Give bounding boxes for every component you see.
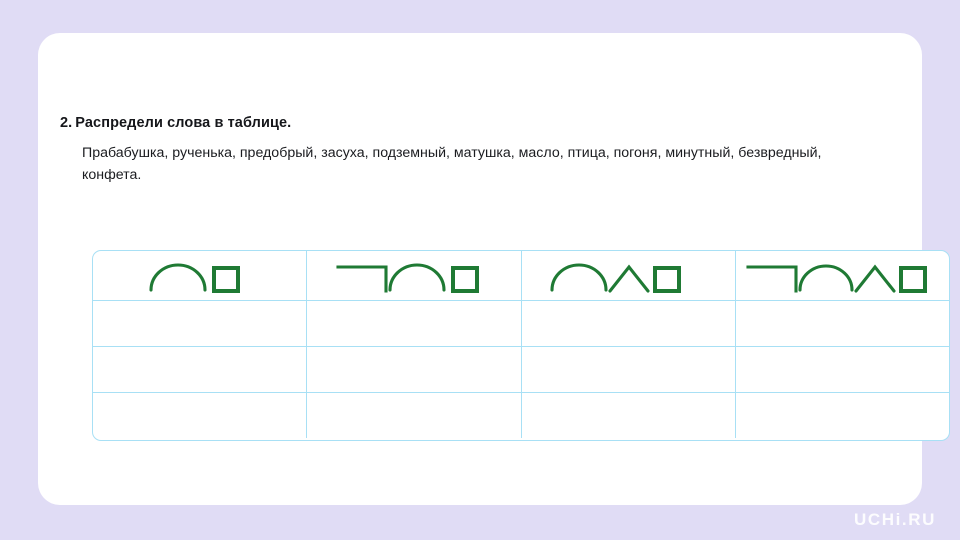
answer-cell[interactable]: [93, 347, 306, 392]
table-row: [93, 346, 949, 392]
ending-square-icon: [214, 268, 238, 291]
morpheme-table: [92, 250, 950, 441]
answer-cell[interactable]: [306, 393, 520, 438]
task-block: 2.Распредели слова в таблице. Прабабушка…: [60, 115, 900, 186]
root-arc-icon: [151, 265, 205, 290]
header-cell-root-suffix-ending: [521, 251, 735, 300]
uchi-logo: UCHi.RU: [854, 510, 936, 530]
table-header-row: [93, 251, 949, 300]
ending-square-icon: [901, 268, 925, 291]
scheme-prefix-root-ending: [324, 256, 504, 296]
task-heading-text: Распредели слова в таблице.: [75, 115, 291, 131]
scheme-root-suffix-ending: [538, 256, 718, 296]
answer-cell[interactable]: [93, 301, 306, 346]
table-row: [93, 392, 949, 438]
header-cell-root-ending: [93, 251, 306, 300]
word-list: Прабабушка, рученька, предобрый, засуха,…: [82, 142, 842, 186]
answer-cell[interactable]: [735, 301, 949, 346]
table-row: [93, 300, 949, 346]
ending-square-icon: [453, 268, 477, 291]
answer-cell[interactable]: [306, 347, 520, 392]
task-number: 2.: [60, 115, 72, 131]
answer-cell[interactable]: [306, 301, 520, 346]
root-arc-icon: [552, 265, 606, 290]
header-cell-prefix-root-ending: [306, 251, 520, 300]
scheme-prefix-root-suffix-ending: [742, 256, 942, 296]
answer-cell[interactable]: [93, 393, 306, 438]
answer-cell[interactable]: [735, 393, 949, 438]
prefix-bracket-icon: [748, 267, 796, 291]
suffix-caret-icon: [610, 267, 648, 291]
root-arc-icon: [800, 266, 852, 290]
root-arc-icon: [390, 265, 444, 290]
task-heading: 2.Распредели слова в таблице.: [60, 115, 900, 131]
ending-square-icon: [655, 268, 679, 291]
answer-cell[interactable]: [521, 347, 735, 392]
header-cell-prefix-root-suffix-ending: [735, 251, 949, 300]
worksheet-card: 2.Распредели слова в таблице. Прабабушка…: [38, 33, 922, 505]
prefix-bracket-icon: [338, 267, 386, 291]
suffix-caret-icon: [856, 267, 894, 291]
answer-cell[interactable]: [735, 347, 949, 392]
scheme-root-ending: [125, 256, 275, 296]
answer-cell[interactable]: [521, 393, 735, 438]
answer-cell[interactable]: [521, 301, 735, 346]
